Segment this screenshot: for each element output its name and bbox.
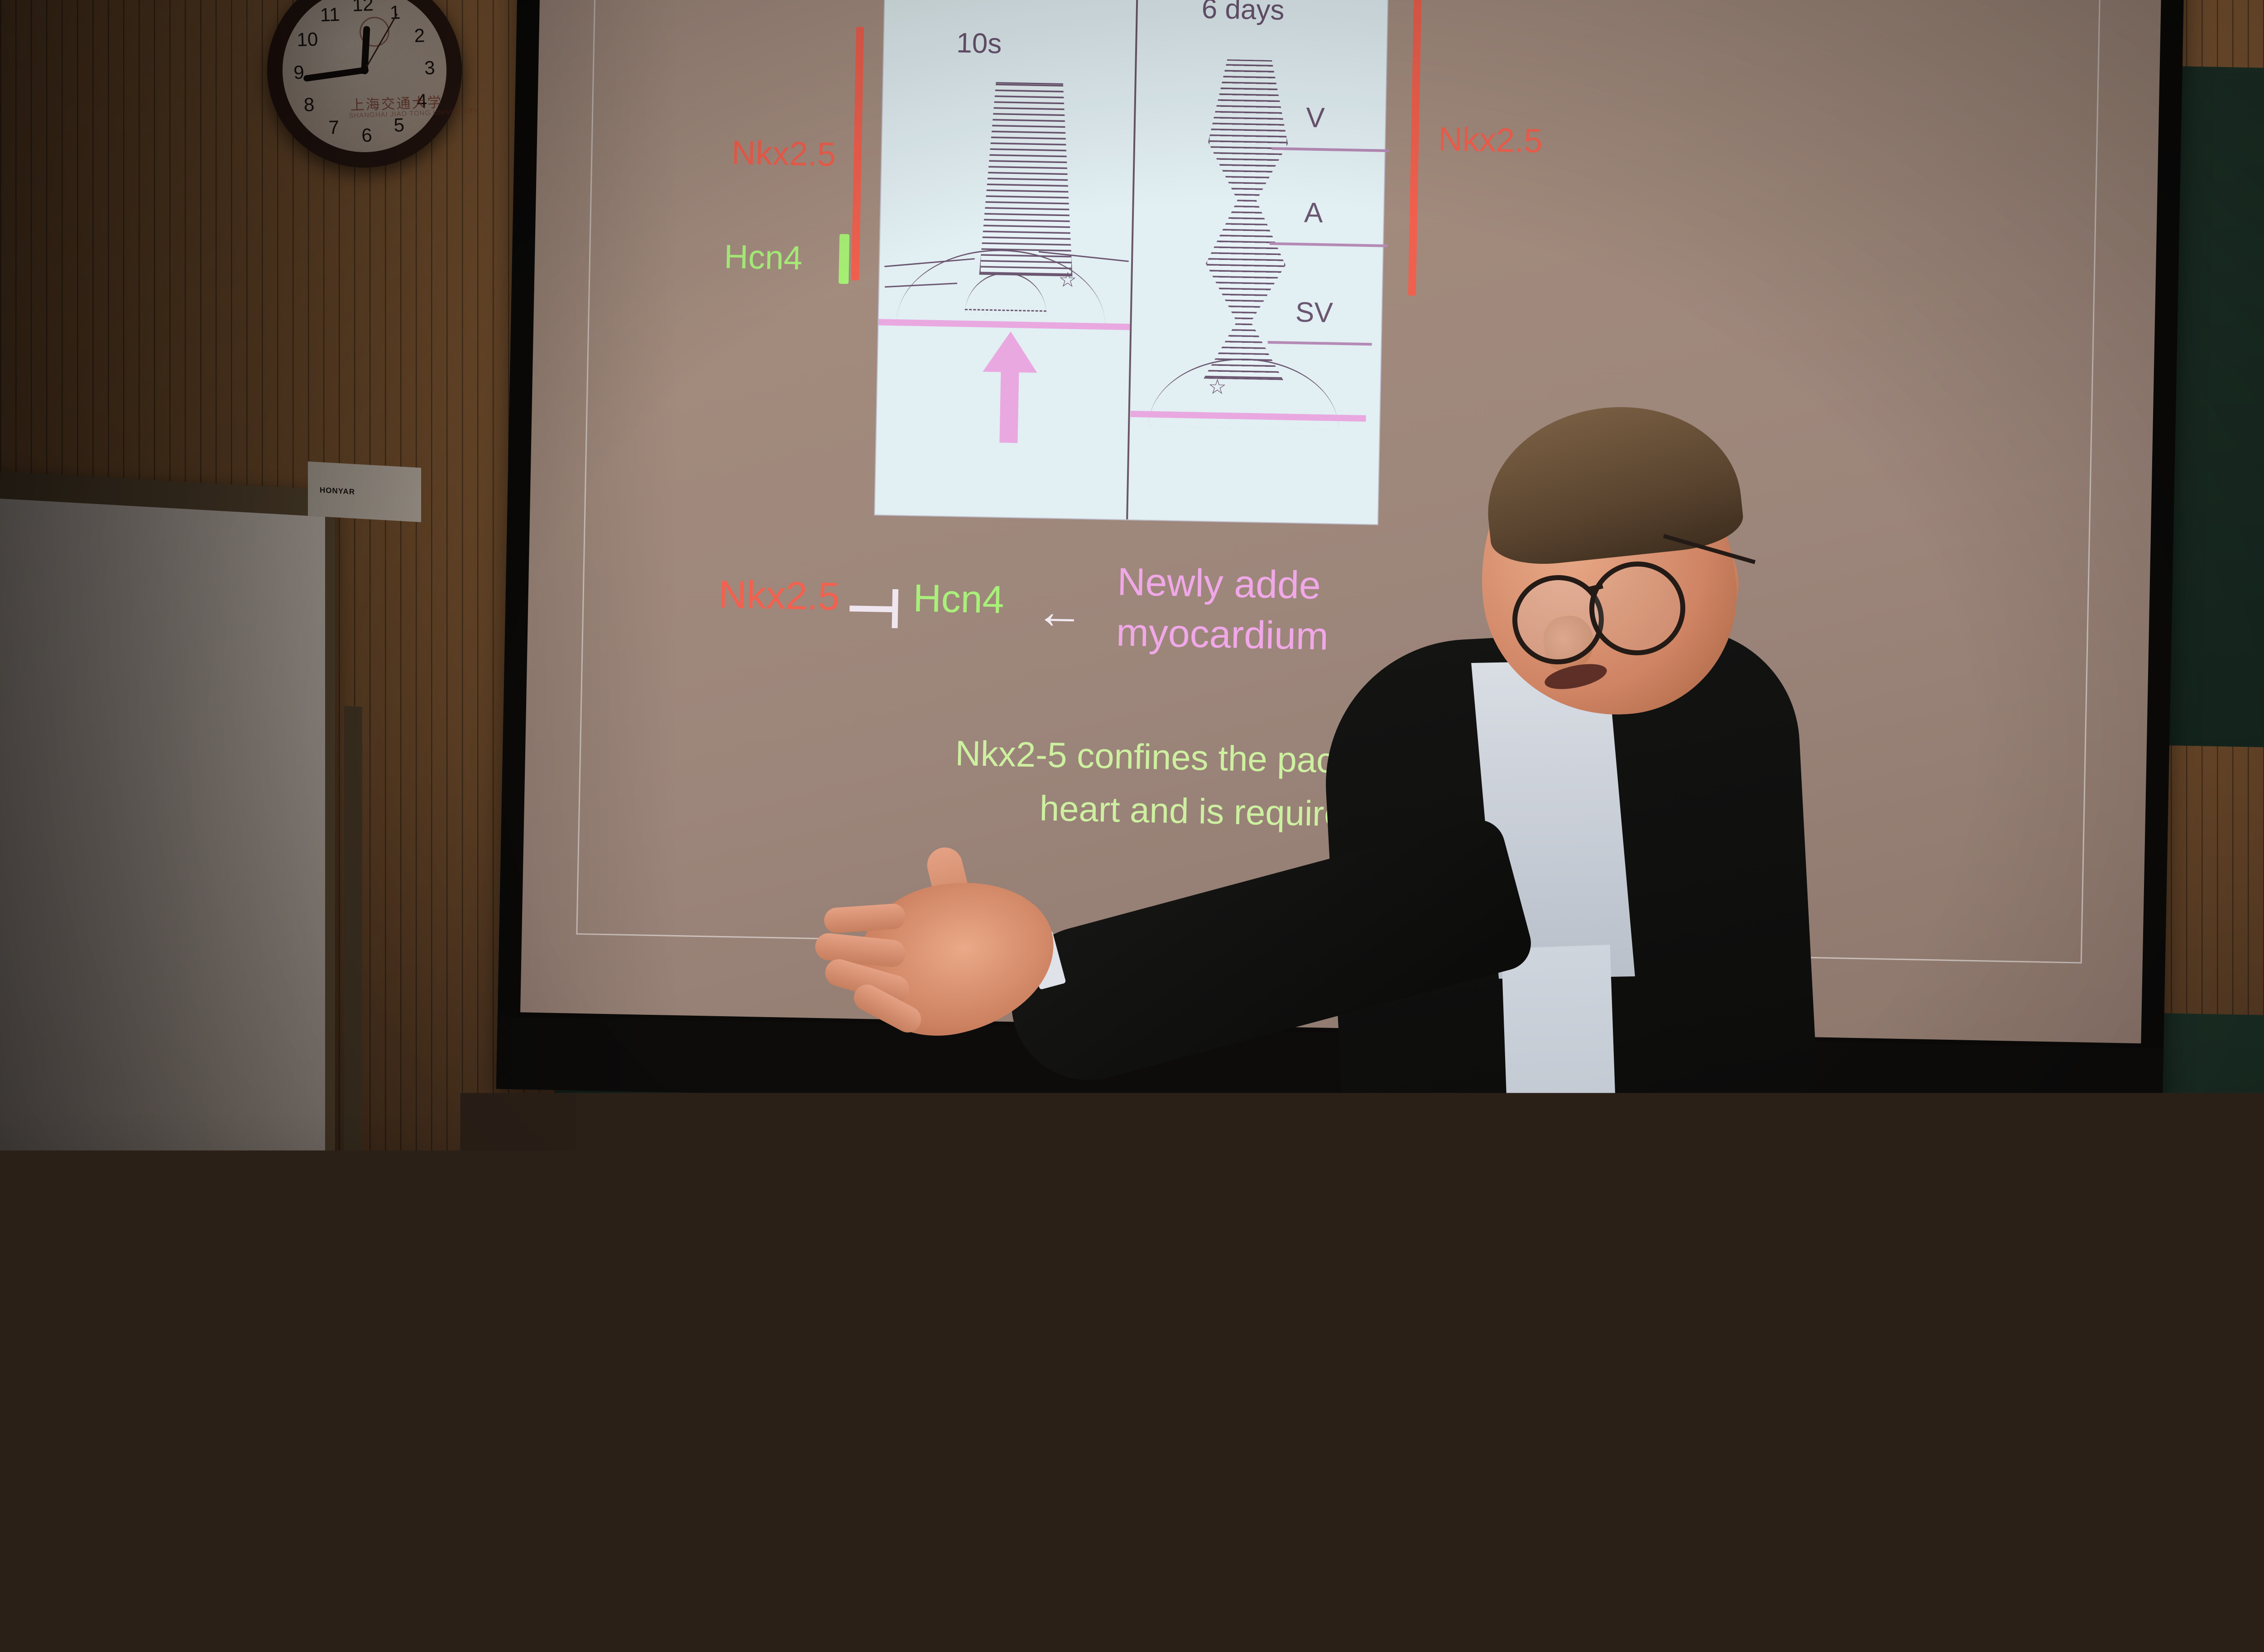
chamber-label-A: A	[1304, 197, 1324, 229]
left-arrow-icon: ←	[1035, 586, 1084, 636]
stage-label-6days: 6 days	[1201, 0, 1285, 26]
annotation-repressor-label: Nkx2.5	[718, 572, 840, 619]
stage-label-10s: 10s	[956, 27, 1002, 60]
repression-bar-vertical	[892, 589, 898, 628]
nkx25-label-right: Nkx2.5	[1438, 120, 1543, 160]
outflow-tract-left	[979, 82, 1076, 277]
hcn4-label-left: Hcn4	[724, 237, 802, 277]
hcn4-extent-bar-left	[839, 234, 849, 284]
looped-heart-tube-right	[1204, 59, 1290, 380]
pacemaker-star-icon-right: ☆	[1208, 376, 1227, 397]
lecture-hall-scene: 12 1 2 3 4 5 6 7 8 9 10 11 上海交通大学 SHANGH…	[0, 0, 2264, 1652]
pacemaker-star-icon-left: ☆	[1058, 269, 1077, 290]
leader-line-atrium	[1270, 242, 1387, 247]
pink-up-arrow-head	[983, 331, 1038, 373]
nkx25-label-left: Nkx2.5	[731, 133, 836, 173]
leader-line-sinus-venosus	[1268, 341, 1372, 346]
leader-line-ventricle	[1271, 147, 1389, 152]
bottom-shadow	[0, 1109, 2264, 1652]
chamber-label-SV: SV	[1295, 296, 1333, 329]
pink-up-arrow-stem	[999, 370, 1019, 443]
repression-bar-horizontal	[849, 605, 895, 612]
diagram-panel-divider	[1126, 0, 1138, 519]
annotation-target-label: Hcn4	[913, 576, 1005, 623]
chamber-label-V: V	[1306, 101, 1325, 134]
